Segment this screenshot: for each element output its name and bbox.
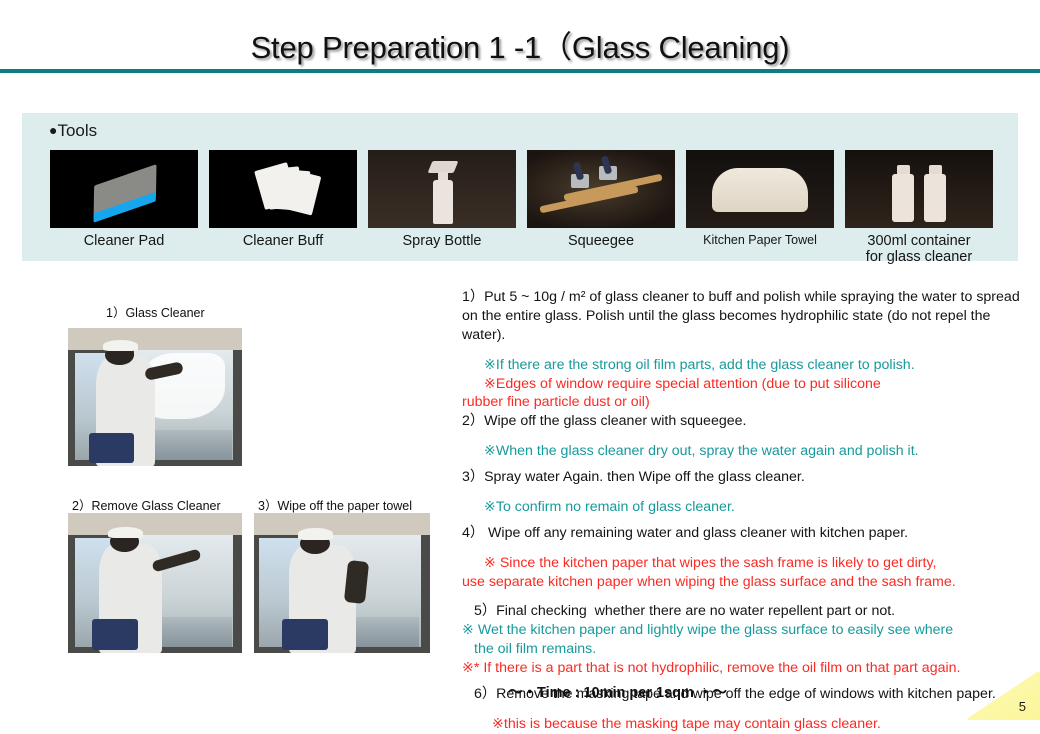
- remove-glass-cleaner-photo: [68, 513, 242, 653]
- instruction-list: 1）Put 5 ~ 10g / m² of glass cleaner to b…: [462, 288, 1034, 734]
- instruction-note5a: ※ Wet the kitchen paper and lightly wipe…: [462, 621, 1034, 640]
- squeegee-photo: [527, 150, 675, 228]
- tool-item-spray-bottle: Spray Bottle: [368, 150, 516, 249]
- instruction-step3: 3）Spray water Again. then Wipe off the g…: [462, 468, 1034, 487]
- tools-heading: ●Tools: [49, 121, 97, 141]
- kitchen-paper-towel-photo: [686, 150, 834, 228]
- instruction-note3: ※To confirm no remain of glass cleaner.: [462, 498, 1034, 517]
- tool-item-cleaner-buff: Cleaner Buff: [209, 150, 357, 249]
- tool-caption-cleaner-pad: Cleaner Pad: [50, 233, 198, 249]
- tools-panel: ●Tools Cleaner Pad Cleaner Buff Spray Bo…: [22, 113, 1018, 261]
- tool-caption-cleaner-buff: Cleaner Buff: [209, 233, 357, 249]
- instruction-note2: ※When the glass cleaner dry out, spray t…: [462, 442, 1034, 461]
- tool-caption-container-line2: for glass cleaner: [845, 249, 993, 265]
- photo-caption-remove-glass-cleaner: 2）Remove Glass Cleaner: [72, 495, 221, 514]
- container-photo: [845, 150, 993, 228]
- tool-item-squeegee: Squeegee: [527, 150, 675, 249]
- cleaner-pad-photo: [50, 150, 198, 228]
- tool-item-cleaner-pad: Cleaner Pad: [50, 150, 198, 249]
- tools-heading-label: Tools: [57, 121, 97, 140]
- photo-caption-wipe-off-paper-towel: 3）Wipe off the paper towel: [258, 495, 412, 514]
- instruction-note4a: ※ Since the kitchen paper that wipes the…: [462, 554, 1034, 573]
- tool-item-container: 300ml container for glass cleaner: [845, 150, 993, 265]
- instruction-note1c: rubber fine particle dust or oil): [462, 393, 1034, 412]
- tool-item-kitchen-paper-towel: Kitchen Paper Towel: [686, 150, 834, 247]
- glass-cleaner-photo: [68, 328, 242, 466]
- instruction-note1a: ※If there are the strong oil film parts,…: [462, 356, 1034, 375]
- tool-caption-spray-bottle: Spray Bottle: [368, 233, 516, 249]
- bullet-icon: ●: [49, 122, 57, 138]
- instruction-note4b: use separate kitchen paper when wiping t…: [462, 573, 1034, 592]
- instruction-step2: 2）Wipe off the glass cleaner with squeeg…: [462, 412, 1034, 431]
- instruction-step4: 4） Wipe off any remaining water and glas…: [462, 524, 1034, 543]
- page-number: 5: [1019, 699, 1026, 714]
- instruction-note5c: ※* If there is a part that is not hydrop…: [462, 659, 1034, 678]
- photo-caption-glass-cleaner: 1）Glass Cleaner: [106, 302, 205, 321]
- instruction-step5: 5）Final checking whether there are no wa…: [462, 602, 1034, 621]
- instruction-note6: ※this is because the masking tape may co…: [462, 715, 1034, 734]
- title-divider: [0, 69, 1040, 73]
- spray-bottle-photo: [368, 150, 516, 228]
- page-corner-decoration: [968, 672, 1040, 720]
- instruction-note1b: ※Edges of window require special attenti…: [462, 375, 1034, 394]
- page-title: Step Preparation 1 -1（Glass Cleaning): [0, 22, 1040, 67]
- instruction-note5b: the oil film remains.: [462, 640, 1034, 659]
- instruction-step1: 1）Put 5 ~ 10g / m² of glass cleaner to b…: [462, 288, 1034, 345]
- tool-caption-kitchen-paper-towel: Kitchen Paper Towel: [686, 233, 834, 247]
- tool-caption-container: 300ml container: [845, 233, 993, 249]
- tool-caption-squeegee: Squeegee: [527, 233, 675, 249]
- time-estimate-note: 〜・Time : 10min per 1sqm ・〜: [508, 681, 727, 702]
- wipe-off-paper-towel-photo: [254, 513, 430, 653]
- cleaner-buff-photo: [209, 150, 357, 228]
